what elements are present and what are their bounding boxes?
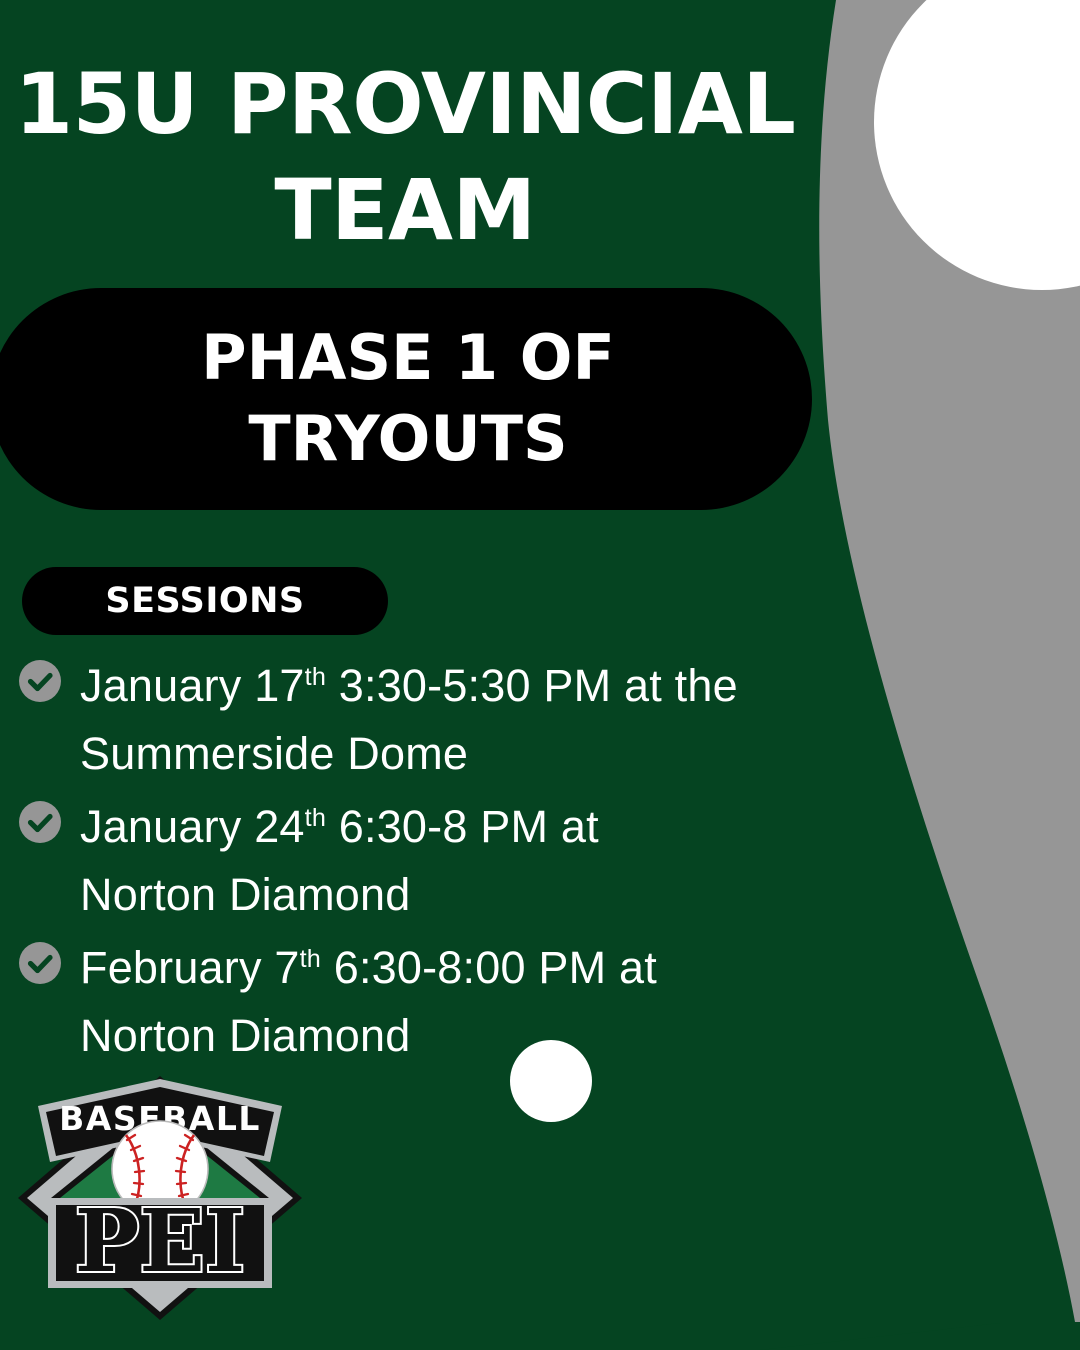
list-item: February 7th 6:30-8:00 PM at Norton Diam… — [18, 934, 738, 1071]
session-date: January 17 — [80, 660, 305, 711]
session-date: February 7 — [80, 942, 300, 993]
check-circle-icon — [18, 659, 62, 703]
poster-canvas: 15U PROVINCIAL TEAM PHASE 1 OF TRYOUTS S… — [0, 0, 1080, 1350]
session-text: January 17th 3:30-5:30 PM at the Summers… — [18, 652, 738, 789]
list-item: January 24th 6:30-8 PM at Norton Diamond — [18, 793, 738, 930]
session-text: February 7th 6:30-8:00 PM at Norton Diam… — [18, 934, 738, 1071]
logo-mark-text: PEI — [75, 1191, 245, 1292]
session-ordinal: th — [305, 663, 326, 691]
session-ordinal: th — [305, 804, 326, 832]
sessions-list: January 17th 3:30-5:30 PM at the Summers… — [18, 652, 738, 1074]
list-item: January 17th 3:30-5:30 PM at the Summers… — [18, 652, 738, 789]
session-ordinal: th — [300, 945, 321, 973]
session-date: January 24 — [80, 801, 305, 852]
page-title: 15U PROVINCIAL TEAM — [0, 52, 810, 264]
baseball-pei-logo: BASEBALL PEI — [14, 1072, 306, 1324]
check-circle-icon — [18, 941, 62, 985]
phase-pill: PHASE 1 OF TRYOUTS — [0, 288, 812, 510]
session-text: January 24th 6:30-8 PM at Norton Diamond — [18, 793, 738, 930]
sessions-badge: SESSIONS — [22, 567, 388, 635]
sessions-badge-label: SESSIONS — [105, 581, 304, 621]
check-circle-icon — [18, 800, 62, 844]
phase-pill-label: PHASE 1 OF TRYOUTS — [144, 318, 658, 479]
